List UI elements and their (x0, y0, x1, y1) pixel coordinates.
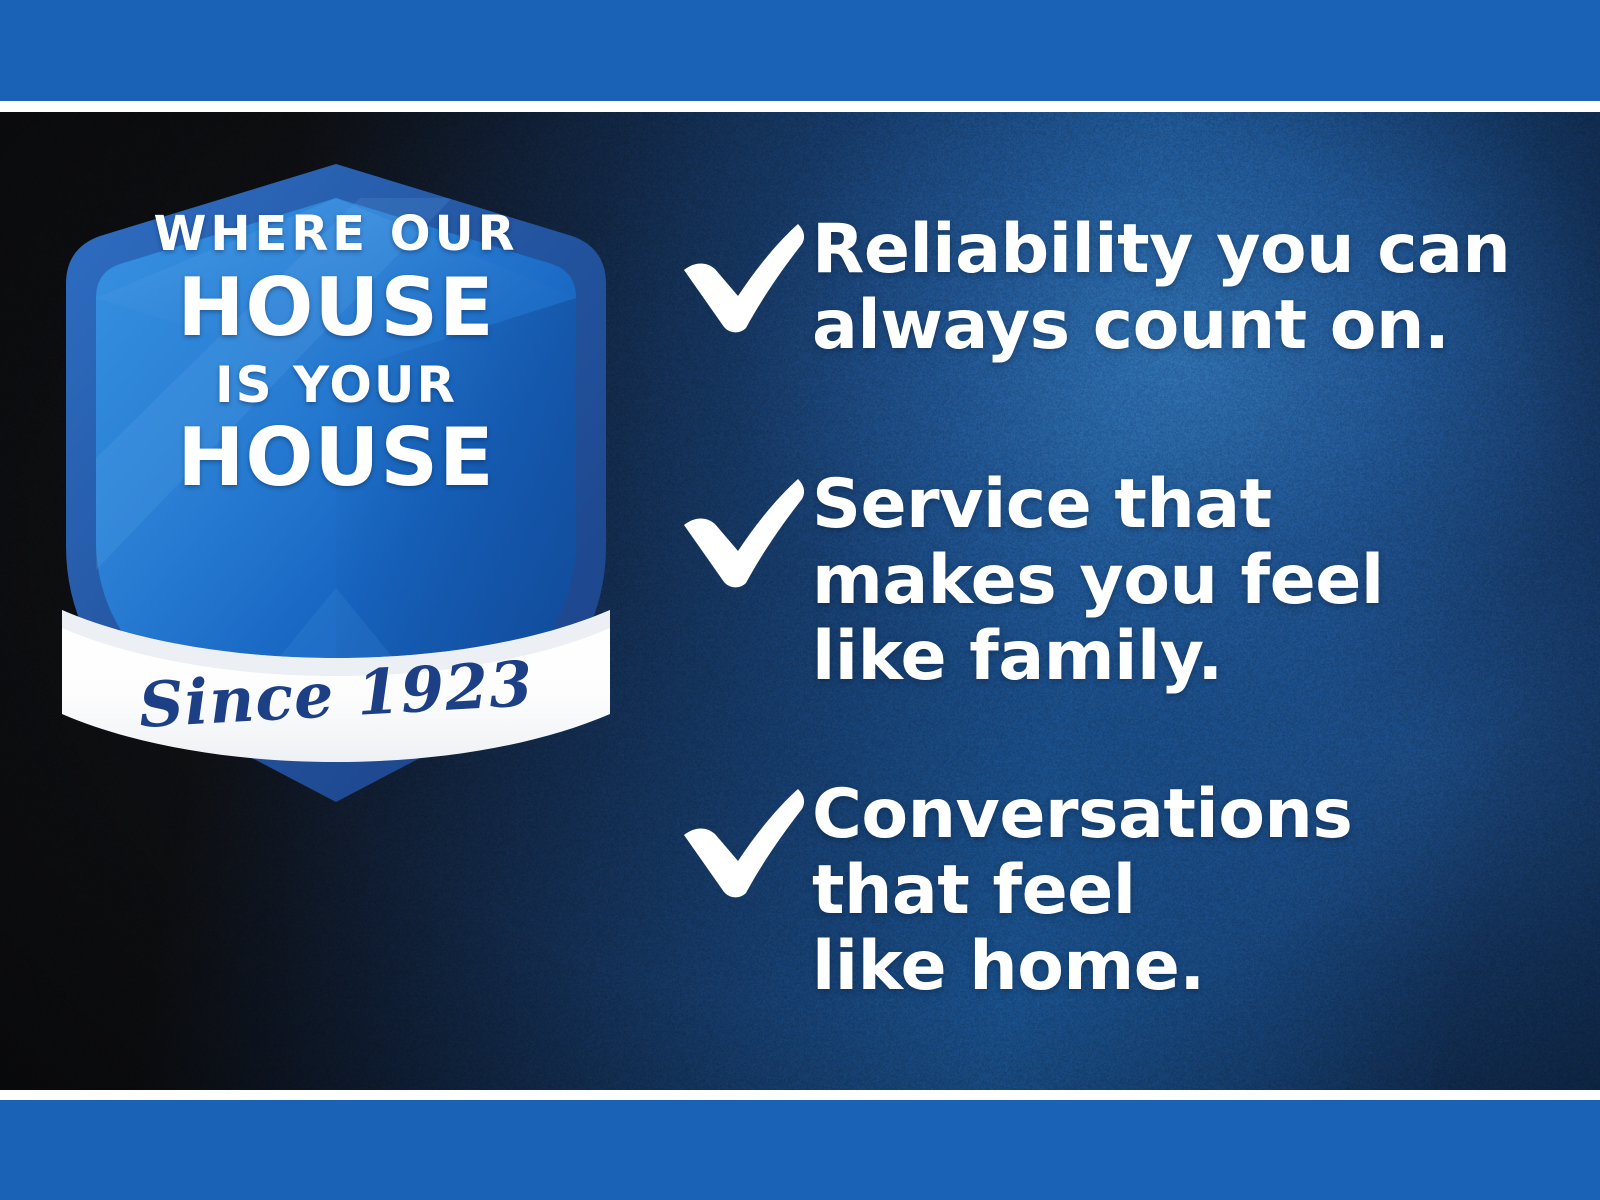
benefit-text: Reliability you can always count on. (812, 212, 1510, 364)
checkmark-icon (672, 781, 812, 906)
benefit-item: Conversations that feel like home. (672, 777, 1352, 1005)
promo-graphic: WHERE OUR HOUSE IS YOUR HOUSE Since 1923… (0, 0, 1600, 1200)
top-brand-bar (0, 0, 1600, 101)
benefit-text: Service that makes you feel like family. (812, 467, 1384, 695)
benefit-text: Conversations that feel like home. (812, 777, 1352, 1005)
benefit-list: Reliability you can always count on. Ser… (672, 112, 1572, 1090)
shield-badge: WHERE OUR HOUSE IS YOUR HOUSE Since 1923 (60, 158, 612, 808)
benefit-item: Reliability you can always count on. (672, 212, 1510, 364)
badge-tagline-line-2: HOUSE (60, 268, 612, 348)
badge-tagline: WHERE OUR HOUSE IS YOUR HOUSE (60, 210, 612, 498)
bottom-brand-bar (0, 1100, 1600, 1200)
badge-tagline-line-4: HOUSE (60, 418, 612, 498)
badge-tagline-line-1: WHERE OUR (60, 210, 612, 258)
badge-tagline-line-3: IS YOUR (60, 360, 612, 410)
benefit-item: Service that makes you feel like family. (672, 467, 1384, 695)
checkmark-icon (672, 216, 812, 341)
checkmark-icon (672, 471, 812, 596)
